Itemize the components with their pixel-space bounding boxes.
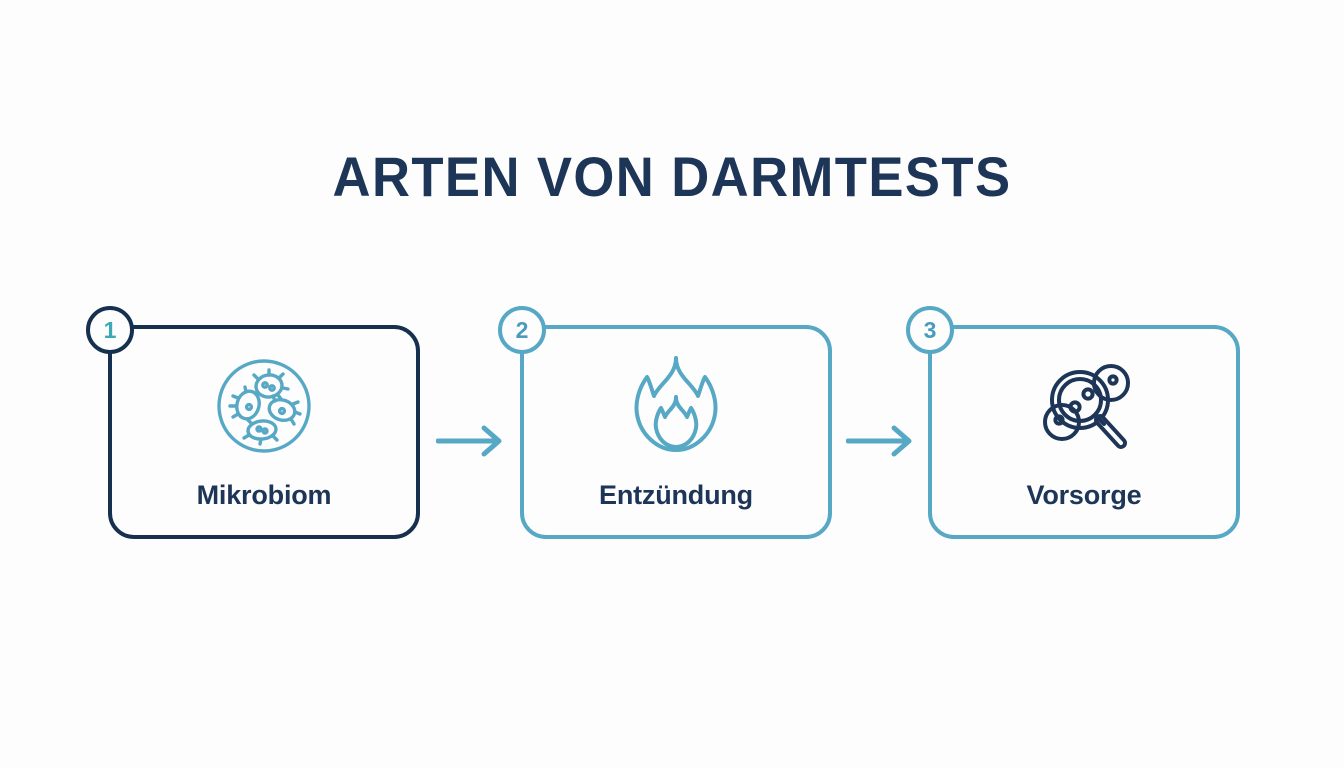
step-number-badge-3: 3 [906,306,954,354]
microbiome-petri-dish-icon [112,351,416,461]
infographic-canvas: ARTEN VON DARMTESTS 1 [0,0,1344,768]
step-number-badge-1: 1 [86,306,134,354]
step-card-mikrobiom[interactable]: 1 [108,325,420,539]
arrow-right-icon [846,423,918,459]
step-card-entzuendung[interactable]: 2 Entzündung [520,325,832,539]
step-card-vorsorge[interactable]: 3 [928,325,1240,539]
step-number-badge-2: 2 [498,306,546,354]
step-label-entzuendung: Entzündung [524,480,828,511]
step-label-vorsorge: Vorsorge [932,480,1236,511]
magnifier-cells-icon [932,351,1236,461]
flame-icon [524,351,828,461]
arrow-right-icon [436,423,508,459]
process-flow: 1 [0,320,1344,560]
page-title: ARTEN VON DARMTESTS [40,146,1303,208]
step-label-mikrobiom: Mikrobiom [112,480,416,511]
